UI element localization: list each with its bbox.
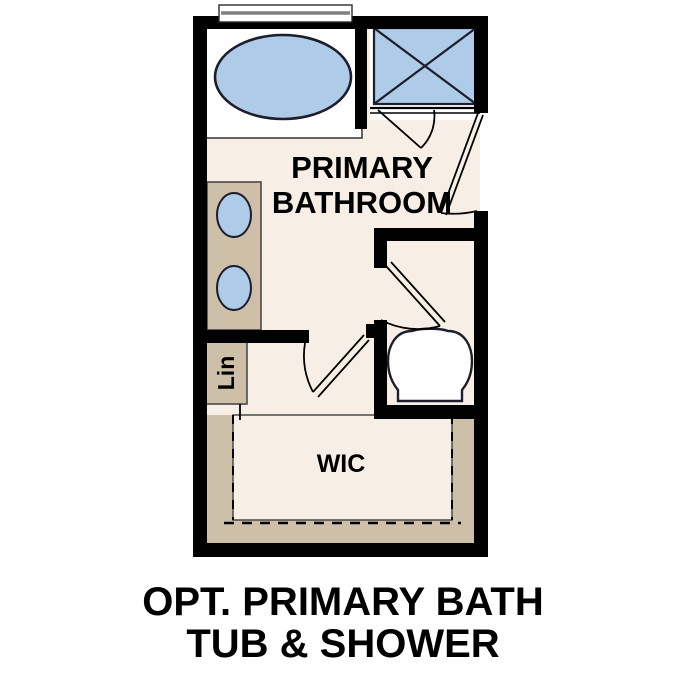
wall-toilet-jamb bbox=[366, 324, 380, 338]
wall-toilet-room-bottom bbox=[374, 405, 479, 419]
floor-plan-root: Lin PRIMARY BATHROOM WIC OPT. PRIMARY BA… bbox=[0, 0, 687, 687]
wall-wic-partition bbox=[205, 330, 309, 343]
wall-tub-shower-divider bbox=[355, 16, 367, 129]
wall-right-lower bbox=[474, 211, 488, 557]
primary-bathroom-label-line1: PRIMARY bbox=[291, 150, 433, 185]
tub-fixture bbox=[215, 35, 351, 119]
linen-label: Lin bbox=[213, 356, 239, 391]
wall-toilet-room-top bbox=[374, 228, 479, 241]
wall-right-shower-return bbox=[474, 105, 488, 113]
floor-plan-svg: Lin PRIMARY BATHROOM WIC OPT. PRIMARY BA… bbox=[0, 0, 687, 687]
wall-right-upper bbox=[474, 16, 488, 110]
wall-toilet-room-left-upper bbox=[374, 228, 387, 268]
vanity-sink-upper bbox=[217, 193, 251, 237]
toilet-fixture bbox=[388, 329, 472, 401]
vanity-sink-lower bbox=[217, 266, 251, 310]
wall-bottom-exterior bbox=[193, 543, 488, 557]
primary-bathroom-label-line2: BATHROOM bbox=[272, 185, 452, 220]
wall-left-exterior bbox=[193, 16, 207, 557]
wall-top-right bbox=[363, 16, 488, 29]
plan-title-line2: TUB & SHOWER bbox=[186, 622, 499, 666]
plan-title-line1: OPT. PRIMARY BATH bbox=[142, 580, 544, 624]
wic-label: WIC bbox=[317, 450, 366, 478]
